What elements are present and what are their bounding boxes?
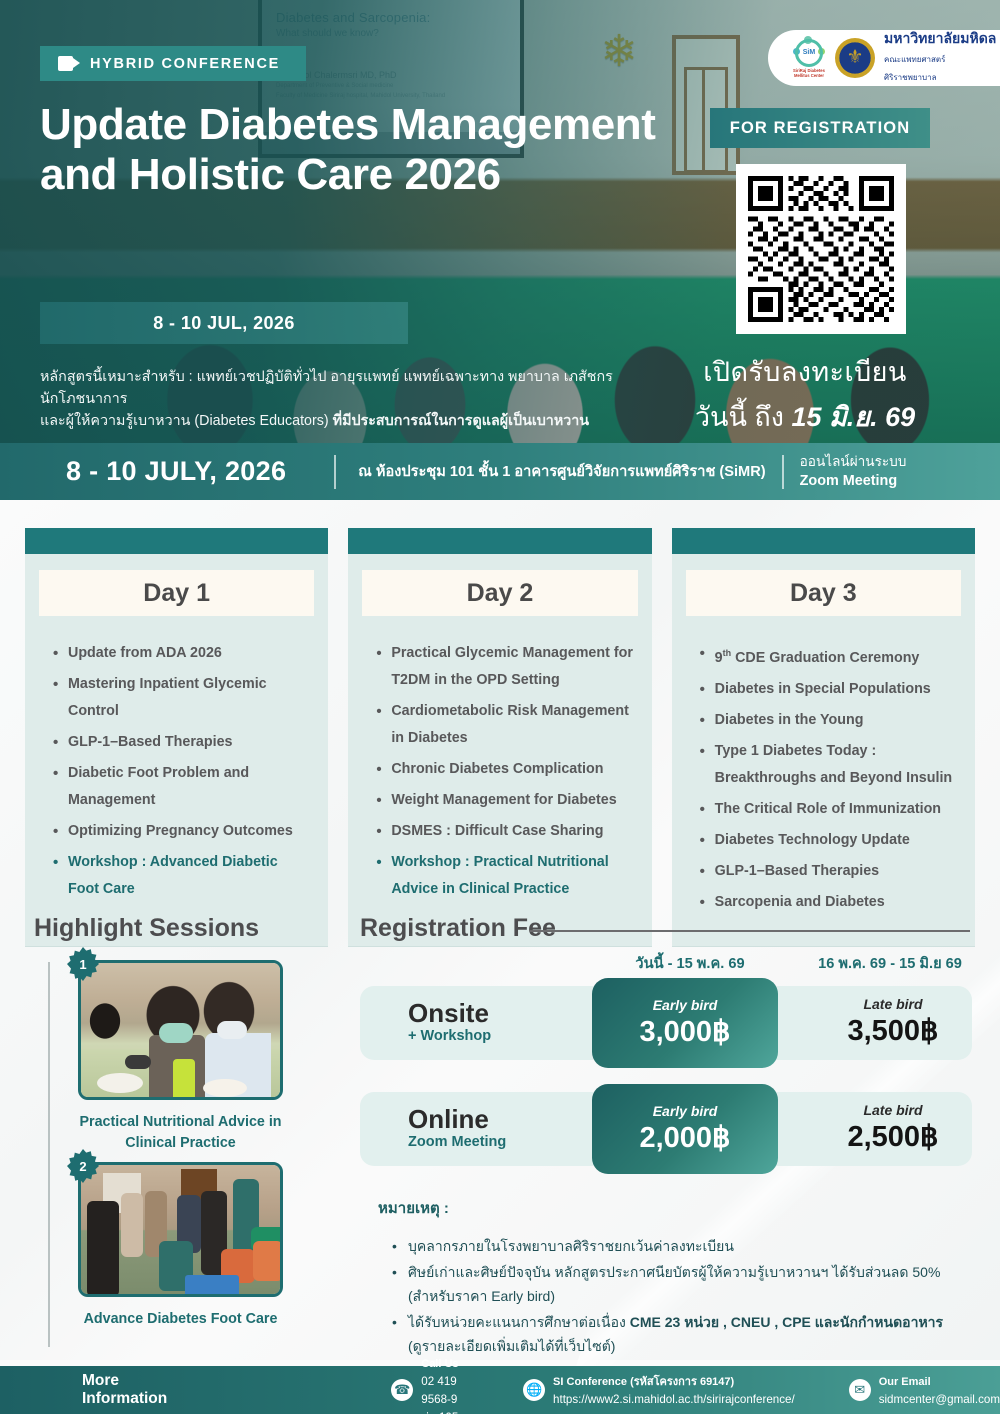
late-bird-tag: Late bird bbox=[800, 1102, 986, 1118]
venue-location: ณ ห้องประชุม 101 ชั้น 1 อาคารศูนย์วิจัยก… bbox=[358, 460, 765, 483]
website-title: SI Conference (รหัสโครงการ 69147) bbox=[553, 1376, 734, 1388]
fee-type-sub: + Workshop bbox=[408, 1028, 491, 1044]
early-bird-amount: 2,000฿ bbox=[639, 1120, 730, 1155]
list-item: ศิษย์เก่าและศิษย์ปัจจุบัน หลักสูตรประกาศ… bbox=[392, 1260, 978, 1308]
day-1-topic-list: Update from ADA 2026 Mastering Inpatient… bbox=[25, 616, 328, 933]
divider bbox=[782, 455, 784, 489]
for-registration-label: FOR REGISTRATION bbox=[730, 119, 910, 138]
list-item: DSMES : Difficult Case Sharing bbox=[376, 818, 635, 845]
email-title: Our Email bbox=[879, 1376, 931, 1388]
fee-onsite-late-bird: Late bird 3,500฿ bbox=[800, 996, 986, 1048]
card-top-bar bbox=[348, 528, 651, 554]
audience-description: หลักสูตรนี้เหมาะสำหรับ : แพทย์เวชปฏิบัติ… bbox=[40, 366, 620, 432]
venue-bar: 8 - 10 JULY, 2026 ณ ห้องประชุม 101 ชั้น … bbox=[0, 443, 1000, 500]
mahidol-logo-text: มหาวิทยาลัยมหิดล คณะแพทยศาสตร์ ศิริราชพย… bbox=[884, 30, 996, 85]
late-bird-amount: 2,500฿ bbox=[800, 1119, 986, 1154]
ordinal-number: 9 bbox=[715, 650, 723, 666]
open-registration-line-2: วันนี้ ถึง 15 มิ.ย. 69 bbox=[620, 395, 990, 438]
footer-website[interactable]: 🌐 SI Conference (รหัสโครงการ 69147) http… bbox=[523, 1372, 795, 1408]
open-registration-prefix: วันนี้ ถึง bbox=[695, 402, 792, 432]
fee-row-onsite-label: Onsite + Workshop bbox=[408, 998, 491, 1044]
list-item: Diabetes in Special Populations bbox=[700, 676, 959, 703]
email-text: Our Email sidmcenter@gmail.com bbox=[879, 1372, 1000, 1408]
sidm-logo-caption: SiriRaj Diabetes Mellitus Center bbox=[792, 68, 826, 78]
hero-section: Diabetes and Sarcopenia: What should we … bbox=[0, 0, 1000, 443]
highlight-session-card-1: 1 Practical Nutritional Advice in Clinic… bbox=[78, 960, 293, 1154]
list-item: The Critical Role of Immunization bbox=[700, 796, 959, 823]
list-item-workshop: Workshop : Practical Nutritional Advice … bbox=[376, 849, 635, 903]
faculty-name: คณะแพทยศาสตร์ bbox=[884, 55, 945, 64]
mahidol-seal-icon bbox=[835, 38, 875, 78]
day-card-2: Day 2 Practical Glycemic Management for … bbox=[348, 528, 651, 947]
more-information-label: More Information bbox=[82, 1372, 167, 1408]
phone-icon: ☎ bbox=[391, 1379, 413, 1401]
registration-fee-column-headers: วันนี้ - 15 พ.ค. 69 16 พ.ค. 69 - 15 มิ.ย… bbox=[360, 952, 972, 974]
highlight-sessions-rail bbox=[48, 962, 50, 1347]
for-registration-button[interactable]: FOR REGISTRATION bbox=[710, 108, 930, 148]
video-camera-icon bbox=[58, 56, 80, 71]
globe-icon: 🌐 bbox=[523, 1379, 545, 1401]
university-name: มหาวิทยาลัยมหิดล bbox=[884, 30, 996, 46]
early-bird-tag: Early bird bbox=[653, 997, 718, 1013]
footer-email[interactable]: ✉ Our Email sidmcenter@gmail.com bbox=[849, 1372, 1000, 1408]
highlight-sessions-title: Highlight Sessions bbox=[34, 914, 259, 943]
highlight-badge-2-number: 2 bbox=[79, 1159, 86, 1174]
list-item: Diabetes in the Young bbox=[700, 707, 959, 734]
hero-date-chip: 8 - 10 JUL, 2026 bbox=[40, 302, 408, 344]
venue-online-platform: ออนไลน์ผ่านระบบ Zoom Meeting bbox=[800, 452, 907, 491]
website-text: SI Conference (รหัสโครงการ 69147) https:… bbox=[553, 1372, 795, 1408]
nutrition-workshop-photo bbox=[81, 963, 280, 1097]
list-item: Diabetes Technology Update bbox=[700, 827, 959, 854]
venue-date: 8 - 10 JULY, 2026 bbox=[66, 456, 286, 487]
sidm-center-logo-icon: SiriRaj Diabetes Mellitus Center bbox=[792, 38, 826, 78]
fee-row-onsite: Onsite + Workshop Early bird 3,000฿ Late… bbox=[360, 986, 972, 1060]
note-credits: CME 23 หน่วย , CNEU , CPE และนักกำหนดอาห… bbox=[630, 1314, 943, 1330]
day-1-title-box: Day 1 bbox=[39, 570, 314, 616]
fee-column-header-early: วันนี้ - 15 พ.ค. 69 bbox=[590, 952, 790, 975]
email-icon: ✉ bbox=[849, 1379, 871, 1401]
fee-online-early-bird: Early bird 2,000฿ bbox=[592, 1084, 778, 1174]
list-item: Sarcopenia and Diabetes bbox=[700, 889, 959, 916]
highlight-session-photo-2 bbox=[78, 1162, 283, 1297]
card-top-bar bbox=[25, 528, 328, 554]
day-card-3: Day 3 9th CDE Graduation Ceremony Diabet… bbox=[672, 528, 975, 947]
note-subtext: (สำหรับราคา Early bird) bbox=[408, 1288, 555, 1304]
day-1-title: Day 1 bbox=[143, 579, 210, 608]
foot-care-workshop-photo bbox=[81, 1165, 280, 1294]
day-3-title: Day 3 bbox=[790, 579, 857, 608]
online-line-1: ออนไลน์ผ่านระบบ bbox=[800, 454, 907, 469]
audience-line-2: และผู้ให้ความรู้เบาหวาน (Diabetes Educat… bbox=[40, 410, 620, 432]
fee-online-late-bird: Late bird 2,500฿ bbox=[800, 1102, 986, 1154]
fee-type-sub: Zoom Meeting bbox=[408, 1134, 506, 1150]
hybrid-conference-label: HYBRID CONFERENCE bbox=[90, 56, 280, 72]
list-item: Weight Management for Diabetes bbox=[376, 787, 635, 814]
highlight-session-caption-2: Advance Diabetes Foot Care bbox=[78, 1309, 283, 1330]
audience-line-2-bold: ที่มีประสบการณ์ในการดูแลผู้เป็นเบาหวาน bbox=[333, 413, 589, 429]
list-item-workshop: Workshop : Advanced Diabetic Foot Care bbox=[53, 849, 312, 903]
notes-heading: หมายเหตุ : bbox=[378, 1196, 978, 1220]
day-3-title-box: Day 3 bbox=[686, 570, 961, 616]
list-item: Mastering Inpatient Glycemic Control bbox=[53, 671, 312, 725]
notes-list: บุคลากรภายในโรงพยาบาลศิริราชยกเว้นค่าลงท… bbox=[378, 1234, 978, 1358]
hero-date-label: 8 - 10 JUL, 2026 bbox=[153, 313, 294, 334]
phone-text: Call Us 02 419 9568-9 ต่อ 105 bbox=[421, 1354, 465, 1414]
late-bird-amount: 3,500฿ bbox=[800, 1013, 986, 1048]
list-item: Optimizing Pregnancy Outcomes bbox=[53, 818, 312, 845]
hospital-name: ศิริราชพยาบาล bbox=[884, 73, 937, 82]
day-card-1: Day 1 Update from ADA 2026 Mastering Inp… bbox=[25, 528, 328, 947]
list-item: Diabetic Foot Problem and Management bbox=[53, 760, 312, 814]
hybrid-conference-badge: HYBRID CONFERENCE bbox=[40, 46, 306, 81]
highlight-session-caption-1: Practical Nutritional Advice in Clinical… bbox=[78, 1112, 283, 1154]
fee-column-header-late: 16 พ.ค. 69 - 15 มิ.ย 69 bbox=[790, 952, 990, 975]
open-registration-line-1: เปิดรับลงทะเบียน bbox=[620, 350, 990, 393]
highlight-badge-1-number: 1 bbox=[79, 957, 86, 972]
list-item: GLP-1–Based Therapies bbox=[700, 858, 959, 885]
list-item-text: CDE Graduation Ceremony bbox=[731, 650, 919, 666]
email-address: sidmcenter@gmail.com bbox=[879, 1393, 1000, 1406]
early-bird-amount: 3,000฿ bbox=[639, 1014, 730, 1049]
card-top-bar bbox=[672, 528, 975, 554]
fee-row-online: Online Zoom Meeting Early bird 2,000฿ La… bbox=[360, 1092, 972, 1166]
highlight-session-card-2: 2 Advance Diabetes Foot Care bbox=[78, 1162, 293, 1330]
highlight-badge-1-icon: 1 bbox=[66, 947, 100, 981]
fee-type-name: Online bbox=[408, 1104, 506, 1134]
registration-qr-code[interactable] bbox=[736, 164, 906, 334]
list-item: GLP-1–Based Therapies bbox=[53, 729, 312, 756]
footer-contact-phone: ☎ Call Us 02 419 9568-9 ต่อ 105 bbox=[391, 1354, 465, 1414]
ordinal-suffix: th bbox=[723, 648, 732, 658]
late-bird-tag: Late bird bbox=[800, 996, 986, 1012]
list-item: ได้รับหน่วยคะแนนการศึกษาต่อเนื่อง CME 23… bbox=[392, 1310, 978, 1358]
fee-row-online-label: Online Zoom Meeting bbox=[408, 1104, 506, 1150]
list-item: Cardiometabolic Risk Management in Diabe… bbox=[376, 698, 635, 752]
list-item: Practical Glycemic Management for T2DM i… bbox=[376, 640, 635, 694]
list-item: Update from ADA 2026 bbox=[53, 640, 312, 667]
open-registration-deadline: 15 มิ.ย. 69 bbox=[791, 402, 915, 432]
day-2-title-box: Day 2 bbox=[362, 570, 637, 616]
fee-type-name: Onsite bbox=[408, 998, 491, 1028]
list-item: Type 1 Diabetes Today : Breakthroughs an… bbox=[700, 738, 959, 792]
early-bird-tag: Early bird bbox=[653, 1103, 718, 1119]
open-registration-text: เปิดรับลงทะเบียน วันนี้ ถึง 15 มิ.ย. 69 bbox=[620, 350, 990, 438]
audience-line-2-plain: และผู้ให้ความรู้เบาหวาน (Diabetes Educat… bbox=[40, 413, 333, 429]
notes-section: หมายเหตุ : บุคลากรภายในโรงพยาบาลศิริราชย… bbox=[378, 1196, 978, 1360]
note-subtext: (ดูรายละเอียดเพิ่มเติมได้ที่เว็บไซต์) bbox=[408, 1338, 615, 1354]
program-day-cards: Day 1 Update from ADA 2026 Mastering Inp… bbox=[0, 528, 1000, 947]
day-3-topic-list: 9th CDE Graduation Ceremony Diabetes in … bbox=[672, 616, 975, 946]
divider bbox=[334, 455, 336, 489]
note-text: ได้รับหน่วยคะแนนการศึกษาต่อเนื่อง bbox=[408, 1314, 630, 1330]
fee-onsite-early-bird: Early bird 3,000฿ bbox=[592, 978, 778, 1068]
organizer-logos: SiriRaj Diabetes Mellitus Center มหาวิทย… bbox=[768, 30, 1000, 86]
conference-poster: Diabetes and Sarcopenia: What should we … bbox=[0, 0, 1000, 1414]
page-title: Update Diabetes Management and Holistic … bbox=[40, 100, 660, 200]
phone-number: 02 419 9568-9 ต่อ 105 bbox=[421, 1375, 458, 1414]
list-item: Chronic Diabetes Complication bbox=[376, 756, 635, 783]
highlight-badge-2-icon: 2 bbox=[66, 1149, 100, 1183]
online-line-2: Zoom Meeting bbox=[800, 473, 898, 489]
registration-fee-title: Registration Fee bbox=[360, 914, 556, 943]
highlight-session-photo-1 bbox=[78, 960, 283, 1100]
footer: More Information ☎ Call Us 02 419 9568-9… bbox=[0, 1366, 1000, 1414]
list-item: 9th CDE Graduation Ceremony bbox=[700, 640, 959, 672]
note-text: ศิษย์เก่าและศิษย์ปัจจุบัน หลักสูตรประกาศ… bbox=[408, 1264, 940, 1280]
day-2-topic-list: Practical Glycemic Management for T2DM i… bbox=[348, 616, 651, 933]
audience-line-1: หลักสูตรนี้เหมาะสำหรับ : แพทย์เวชปฏิบัติ… bbox=[40, 366, 620, 410]
day-2-title: Day 2 bbox=[467, 579, 534, 608]
website-url: https://www2.si.mahidol.ac.th/sirirajcon… bbox=[553, 1393, 795, 1406]
list-item: บุคลากรภายในโรงพยาบาลศิริราชยกเว้นค่าลงท… bbox=[392, 1234, 978, 1258]
phone-title: Call Us bbox=[421, 1358, 458, 1370]
registration-fee-rule bbox=[530, 930, 970, 932]
